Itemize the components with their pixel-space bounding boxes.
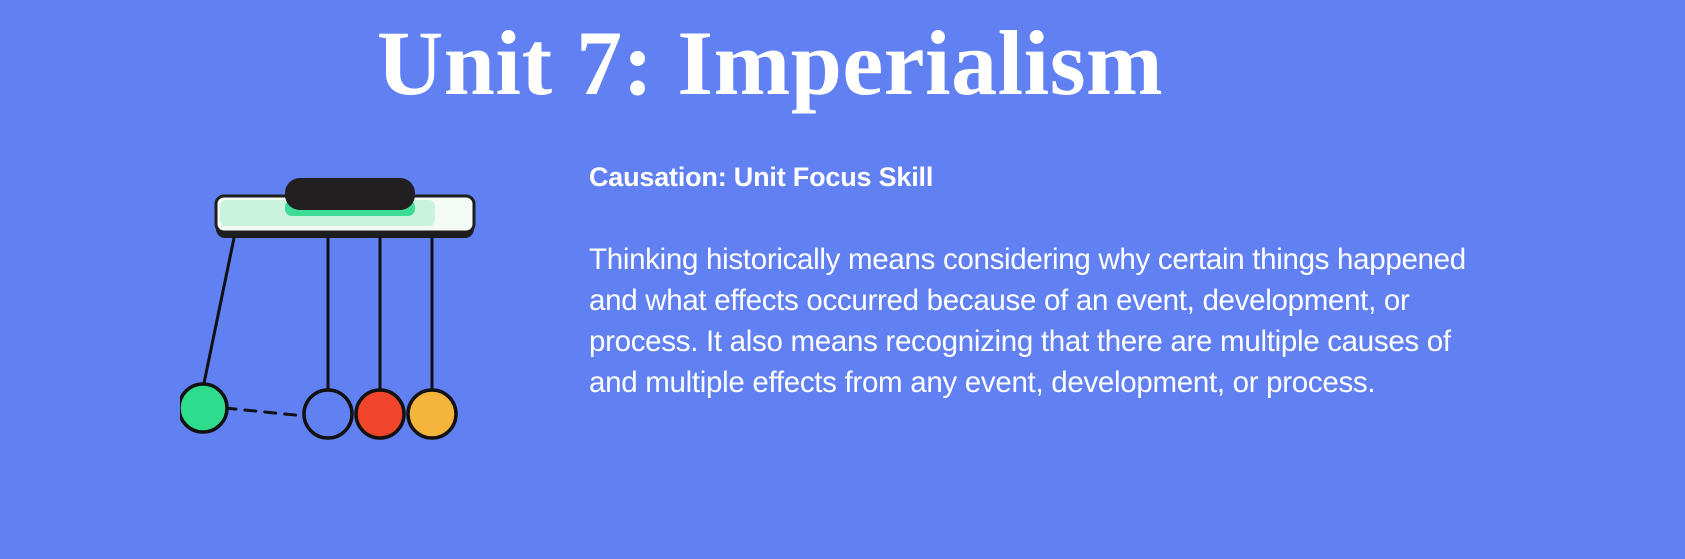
page-title: Unit 7: Imperialism	[0, 14, 1540, 113]
cradle-frame-bar	[216, 178, 474, 238]
content-body: Thinking historically means considering …	[589, 239, 1469, 403]
cradle-ball-2	[304, 390, 352, 438]
content-heading: Causation: Unit Focus Skill	[589, 160, 1489, 195]
slide-root: Unit 7: Imperialism	[0, 0, 1685, 559]
newtons-cradle-illustration	[180, 160, 500, 460]
cradle-motion-trail	[225, 408, 305, 416]
cradle-top-bar-front	[285, 178, 415, 210]
cradle-ball-1	[180, 384, 227, 432]
content-column: Causation: Unit Focus Skill Thinking his…	[589, 160, 1489, 403]
cradle-ball-4	[408, 390, 456, 438]
cradle-ball-3	[356, 390, 404, 438]
cradle-string-1	[203, 238, 234, 388]
